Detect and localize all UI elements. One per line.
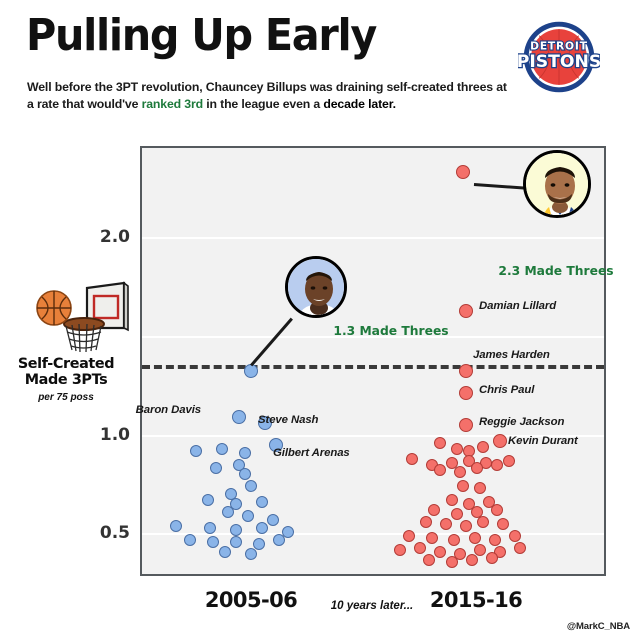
label-reggie-jackson: Reggie Jackson — [479, 416, 564, 428]
reference-line-1-3 — [142, 365, 604, 369]
data-point — [434, 546, 446, 558]
data-point — [406, 453, 418, 465]
data-point — [434, 437, 446, 449]
data-point — [457, 480, 469, 492]
data-point — [239, 447, 251, 459]
infographic-page: Pulling Up Early Well before the 3PT rev… — [0, 0, 640, 640]
data-point — [491, 504, 503, 516]
data-point — [267, 514, 279, 526]
billups-callout-note: 1.3 Made Threes — [333, 324, 448, 338]
data-point — [210, 462, 222, 474]
svg-text:DETROIT: DETROIT — [530, 40, 588, 53]
label-damian-lillard: Damian Lillard — [479, 300, 556, 312]
data-point — [469, 532, 481, 544]
data-point — [428, 504, 440, 516]
curry-callout-note: 2.3 Made Threes — [498, 264, 613, 278]
pistons-logo: DETROIT PISTONS — [518, 16, 600, 98]
data-point — [477, 441, 489, 453]
credit-handle: @MarkC_NBA — [567, 621, 630, 632]
label-kevin-durant: Kevin Durant — [508, 435, 578, 447]
data-point-stephen-curry — [456, 165, 470, 179]
gridline-2-0 — [142, 237, 604, 239]
label-baron-davis: Baron Davis — [136, 404, 201, 416]
data-point — [514, 542, 526, 554]
data-point-chris-paul — [459, 386, 473, 400]
data-point — [489, 534, 501, 546]
data-point — [474, 482, 486, 494]
y-tick-2-0: 2.0 — [100, 227, 130, 247]
data-point — [414, 542, 426, 554]
data-point — [219, 546, 231, 558]
y-axis-tick-labels: 2.0 1.0 0.5 — [0, 146, 138, 576]
leader-line-curry — [474, 183, 529, 189]
data-point — [471, 462, 483, 474]
data-point — [403, 530, 415, 542]
data-point — [474, 544, 486, 556]
data-point — [202, 494, 214, 506]
subtitle-highlight-green: ranked 3rd — [142, 97, 203, 111]
data-point — [230, 524, 242, 536]
data-point — [245, 480, 257, 492]
label-chris-paul: Chris Paul — [479, 384, 534, 396]
y-tick-1-0: 1.0 — [100, 425, 130, 445]
x-tick-2015-16: 2015-16 — [430, 588, 522, 612]
data-point — [423, 554, 435, 566]
scatter-plot-area: Baron Davis Steve Nash Gilbert Arenas Da… — [140, 146, 606, 576]
data-point — [190, 445, 202, 457]
data-point — [451, 508, 463, 520]
data-point — [486, 552, 498, 564]
label-steve-nash: Steve Nash — [258, 414, 318, 426]
data-point — [426, 532, 438, 544]
data-point — [207, 536, 219, 548]
data-point — [216, 443, 228, 455]
data-point-reggie-jackson — [459, 418, 473, 432]
data-point — [460, 520, 472, 532]
subtitle-part-2: in the league even a — [203, 97, 323, 111]
subtitle: Well before the 3PT revolution, Chauncey… — [27, 79, 507, 114]
data-point — [454, 466, 466, 478]
label-james-harden: James Harden — [473, 349, 550, 361]
data-point — [446, 494, 458, 506]
data-point-baron-davis — [232, 410, 246, 424]
data-point — [440, 518, 452, 530]
data-point-kevin-durant — [493, 434, 507, 448]
billups-headshot — [285, 256, 347, 318]
subtitle-highlight-bold: decade later. — [323, 97, 396, 111]
data-point — [451, 443, 463, 455]
data-point-damian-lillard — [459, 304, 473, 318]
data-point — [256, 522, 268, 534]
data-point — [170, 520, 182, 532]
data-point — [477, 516, 489, 528]
data-point — [448, 534, 460, 546]
data-point — [239, 468, 251, 480]
leader-line-billups — [250, 318, 293, 366]
data-point — [394, 544, 406, 556]
data-point — [245, 548, 257, 560]
page-title: Pulling Up Early — [26, 14, 376, 58]
data-point — [420, 516, 432, 528]
data-point — [509, 530, 521, 542]
data-point — [222, 506, 234, 518]
data-point-chauncey-billups — [244, 364, 258, 378]
data-point — [256, 496, 268, 508]
x-middle-note: 10 years later... — [331, 600, 413, 612]
data-point — [503, 455, 515, 467]
data-point — [273, 534, 285, 546]
data-point — [242, 510, 254, 522]
svg-text:PISTONS: PISTONS — [518, 52, 600, 72]
data-point — [497, 518, 509, 530]
data-point — [434, 464, 446, 476]
data-point — [466, 554, 478, 566]
data-point — [230, 536, 242, 548]
y-tick-0-5: 0.5 — [100, 523, 130, 543]
x-tick-2005-06: 2005-06 — [205, 588, 297, 612]
data-point — [491, 459, 503, 471]
label-gilbert-arenas: Gilbert Arenas — [273, 447, 350, 459]
data-point-james-harden — [459, 364, 473, 378]
data-point — [204, 522, 216, 534]
curry-headshot — [523, 150, 591, 218]
data-point — [184, 534, 196, 546]
data-point — [253, 538, 265, 550]
data-point — [446, 556, 458, 568]
